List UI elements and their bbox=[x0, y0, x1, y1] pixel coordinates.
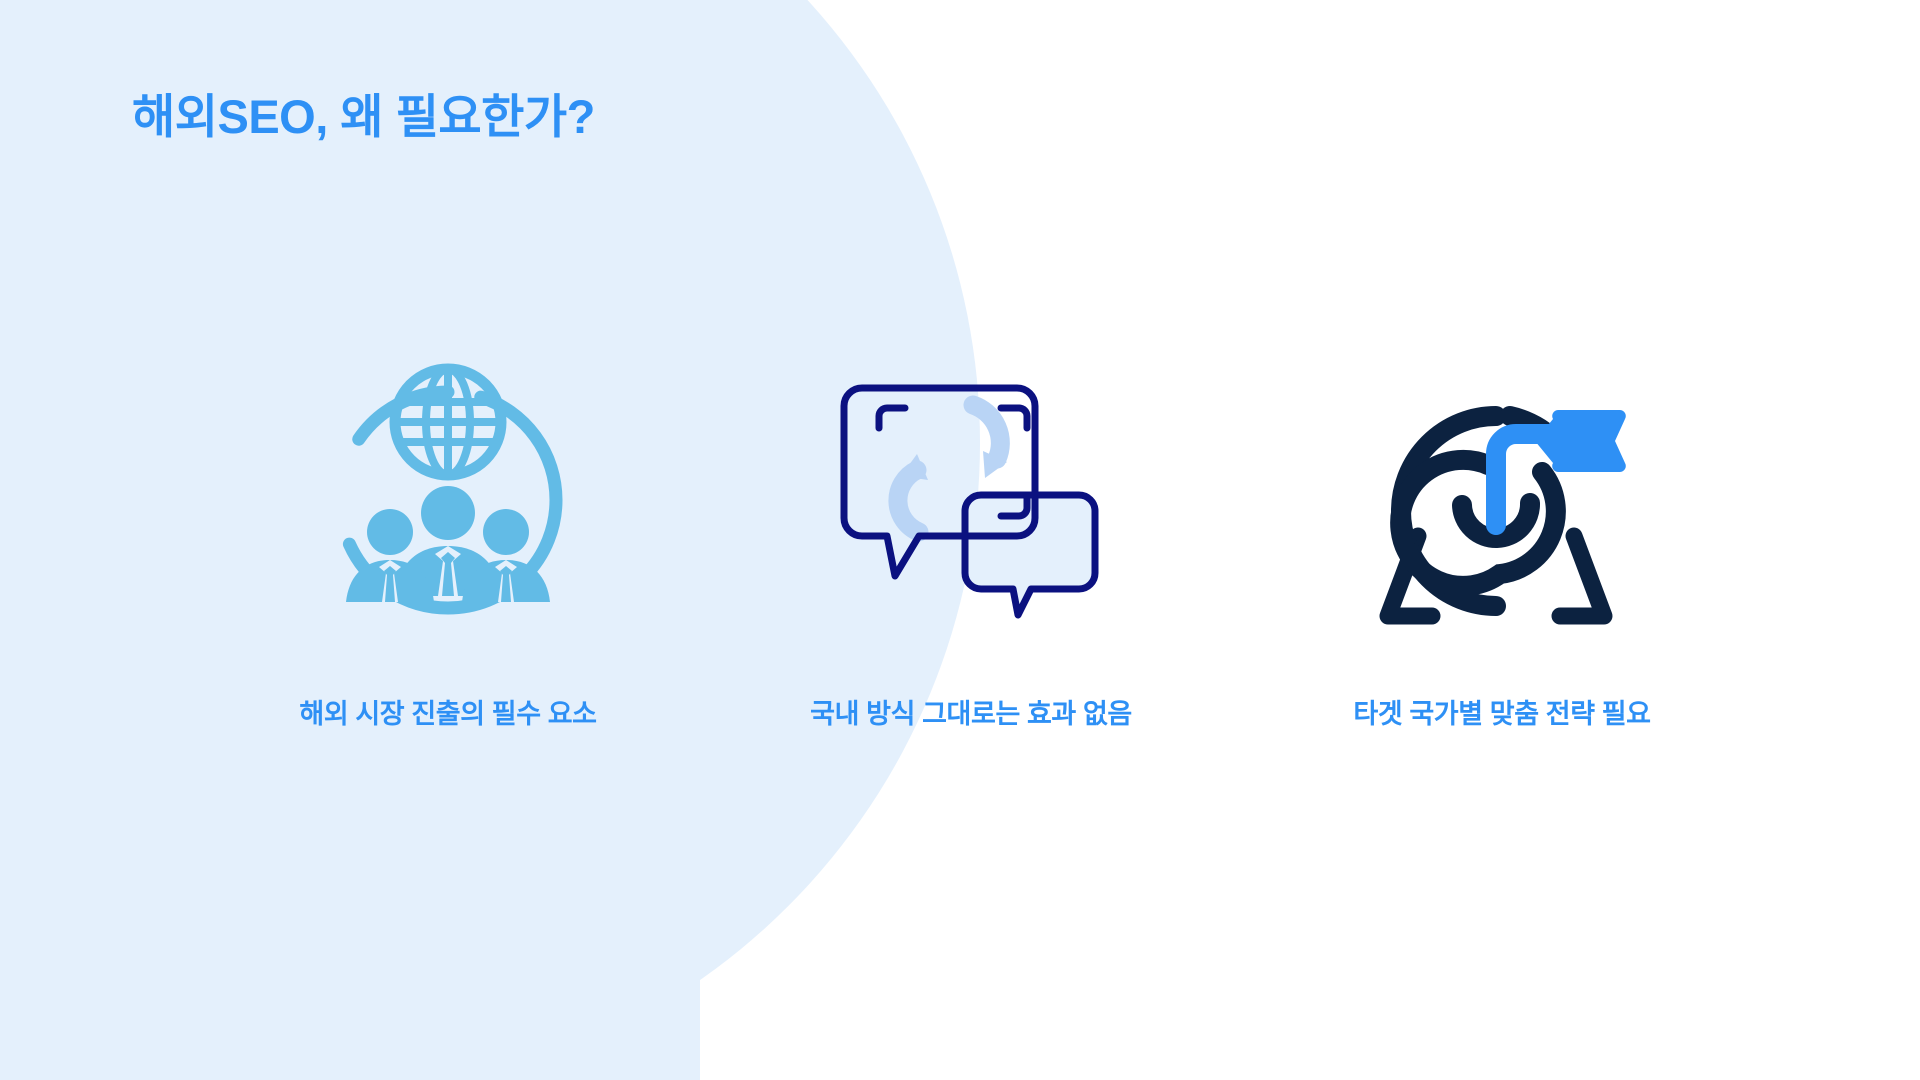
card-overseas-market-essential: 해외 시장 진출의 필수 요소 bbox=[228, 330, 668, 731]
slide-canvas: 해외SEO, 왜 필요한가? bbox=[0, 0, 1920, 1080]
page-title: 해외SEO, 왜 필요한가? bbox=[132, 78, 595, 147]
cards-row: 해외 시장 진출의 필수 요소 bbox=[0, 0, 1920, 1080]
target-dart-icon bbox=[1332, 330, 1672, 670]
card-label: 국내 방식 그대로는 효과 없음 bbox=[810, 692, 1132, 731]
card-domestic-method-ineffective: 국내 방식 그대로는 효과 없음 bbox=[751, 330, 1191, 731]
speech-bubbles-translate-icon bbox=[801, 330, 1141, 670]
card-country-specific-strategy: 타겟 국가별 맞춤 전략 필요 bbox=[1282, 330, 1722, 731]
globe-people-icon bbox=[278, 330, 618, 670]
card-label: 해외 시장 진출의 필수 요소 bbox=[299, 692, 596, 731]
card-label: 타겟 국가별 맞춤 전략 필요 bbox=[1353, 692, 1650, 731]
